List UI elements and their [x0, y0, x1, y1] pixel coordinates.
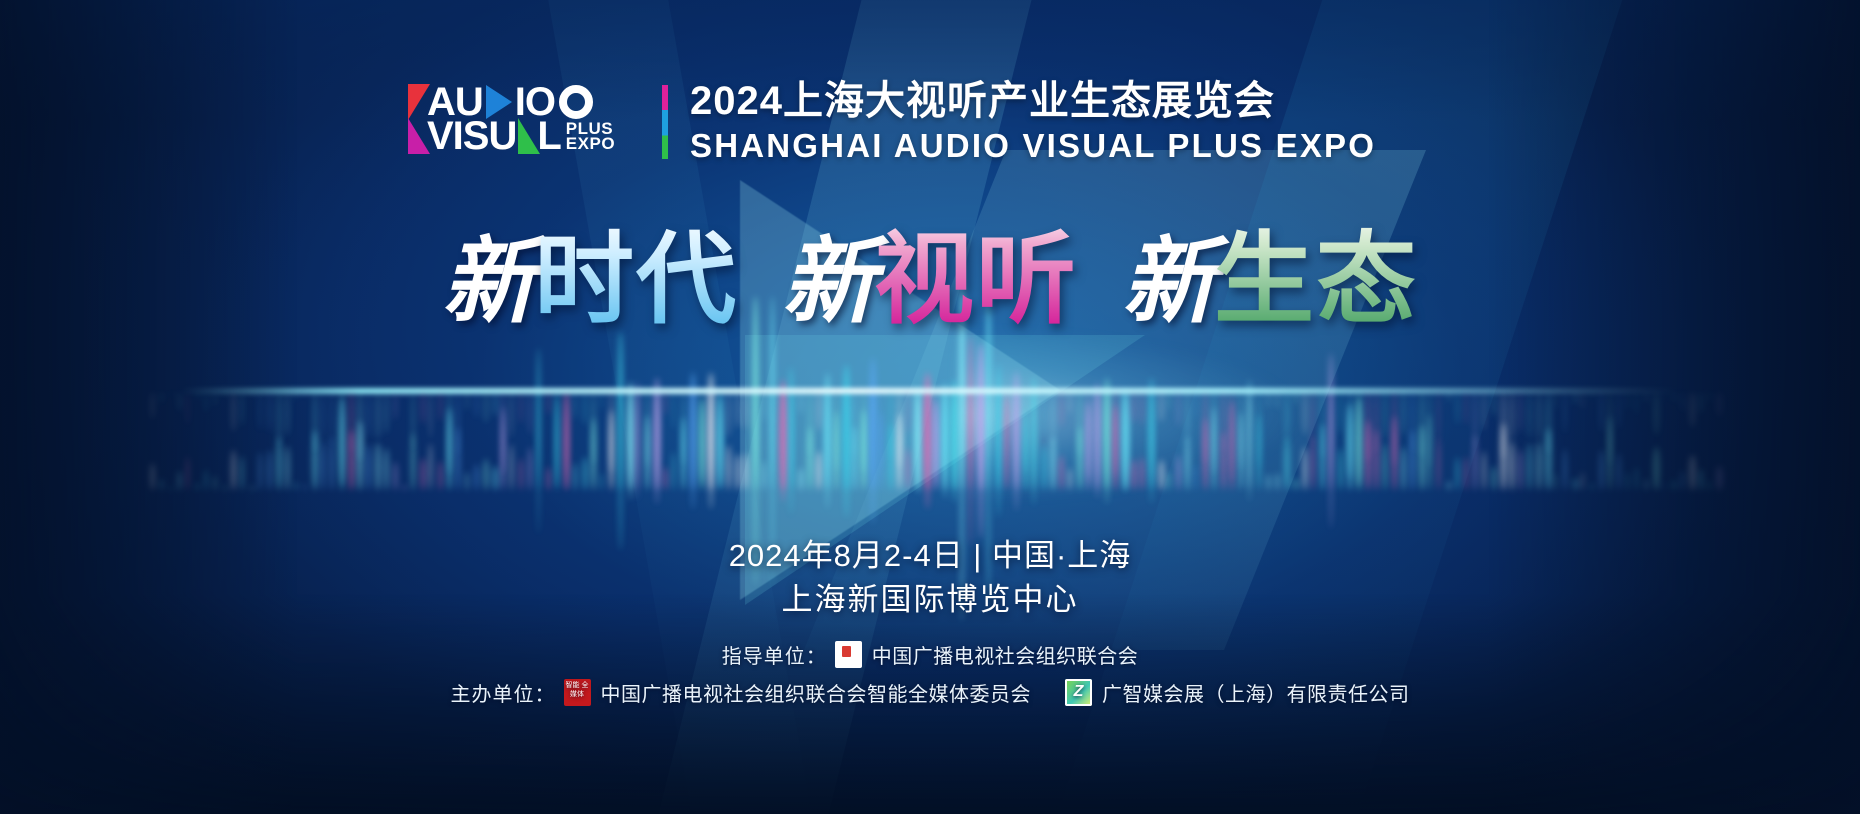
slogan-group-1: 新 时代: [442, 198, 738, 343]
title-chinese: 2024上海大视听产业生态展览会: [690, 78, 1376, 124]
smart-all-media-logo: 智能 全媒体: [564, 679, 591, 706]
slogan-group-2: 新 视听: [782, 198, 1078, 343]
header-titles: 2024上海大视听产业生态展览会 SHANGHAI AUDIO VISUAL P…: [690, 78, 1376, 166]
china-radio-tv-association-logo: [835, 641, 862, 668]
audio-waveform-reflection: [0, 392, 1860, 542]
logo-ring-icon: [559, 85, 593, 119]
slogan-group-3: 新 生态: [1122, 198, 1418, 343]
slogan-word-1: 时代: [534, 198, 738, 343]
title-english: SHANGHAI AUDIO VISUAL PLUS EXPO: [690, 126, 1376, 166]
logo-expo-text: EXPO: [566, 136, 615, 151]
logo-text-visu: VISU: [427, 117, 516, 155]
audio-visual-plus-expo-logo: AU IO VISU L PLUS EXPO: [408, 83, 640, 161]
smart-all-media-logo-text: 智能 全媒体: [564, 681, 591, 699]
host-organizer-row: 主办单位： 智能 全媒体 中国广播电视社会组织联合会智能全媒体委员会 Z 广智媒…: [0, 678, 1860, 707]
slogan-prefix-2: 新: [782, 206, 874, 342]
logo-divider: [662, 85, 668, 159]
event-details: 2024年8月2-4日 | 中国·上海 上海新国际博览中心: [0, 536, 1860, 621]
expo-banner: AU IO VISU L PLUS EXPO 2024上海大视听产业生态展览会 …: [0, 0, 1860, 814]
guide-organizer-label: 指导单位：: [722, 640, 827, 669]
guangzhimei-logo-text: Z: [1065, 681, 1092, 703]
event-date: 2024年8月2-4日 | 中国·上海: [0, 536, 1860, 576]
host-organizer-name-2: 广智媒会展（上海）有限责任公司: [1102, 678, 1410, 707]
guide-organizer-name: 中国广播电视社会组织联合会: [872, 640, 1139, 669]
slogan-prefix-1: 新: [442, 206, 534, 342]
logo-text-l: L: [537, 117, 560, 155]
slogan-row: 新 时代 新 视听 新 生态: [0, 198, 1860, 343]
guangzhimei-logo: Z: [1065, 679, 1092, 706]
slogan-prefix-3: 新: [1122, 206, 1214, 342]
host-organizer-name-1: 中国广播电视社会组织联合会智能全媒体委员会: [601, 678, 1032, 707]
event-venue: 上海新国际博览中心: [0, 579, 1860, 621]
header-logo-block: AU IO VISU L PLUS EXPO 2024上海大视听产业生态展览会 …: [408, 78, 1376, 166]
host-organizer-label: 主办单位：: [451, 678, 556, 707]
guide-organizer-row: 指导单位： 中国广播电视社会组织联合会: [0, 640, 1860, 669]
slogan-word-2: 视听: [874, 198, 1078, 343]
slogan-word-3: 生态: [1214, 198, 1418, 343]
